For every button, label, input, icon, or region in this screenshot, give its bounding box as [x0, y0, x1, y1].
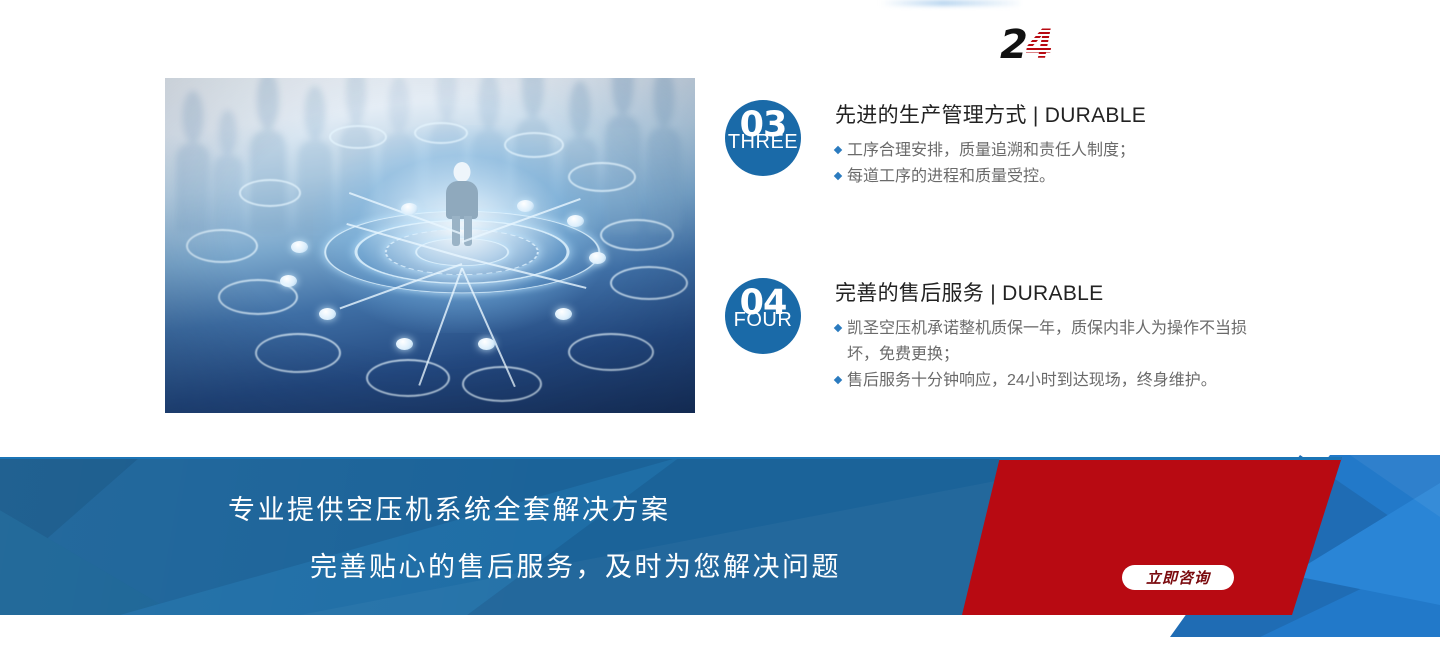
diamond-bullet-icon	[834, 172, 842, 180]
feature-item-four: 04 FOUR 完善的售后服务 | DURABLE 凯圣空压机承诺整机质保一年，…	[725, 278, 1255, 394]
hotline-digit-4: 4	[1026, 22, 1052, 68]
feature-item-three: 03 THREE 先进的生产管理方式 | DURABLE 工序合理安排，质量追溯…	[725, 100, 1146, 190]
banner-slogan-line-2: 完善贴心的售后服务，及时为您解决问题	[0, 545, 990, 584]
badge-word: FOUR	[725, 310, 801, 330]
banner-slogan: 专业提供空压机系统全套解决方案 完善贴心的售后服务，及时为您解决问题	[0, 457, 990, 615]
feature-bullet-text: 售后服务十分钟响应，24小时到达现场，终身维护。	[847, 372, 1217, 389]
feature-bullet-item: 凯圣空压机承诺整机质保一年，质保内非人为操作不当损坏，免费更换；	[835, 316, 1255, 368]
hotline-block: 24 小时服务热线： 400-881-8971	[1000, 24, 1263, 70]
banner-slogan-line-1: 专业提供空压机系统全套解决方案	[0, 488, 990, 527]
feature-bullet-item: 售后服务十分钟响应，24小时到达现场，终身维护。	[835, 368, 1255, 394]
feature-title: 先进的生产管理方式 | DURABLE	[835, 102, 1146, 129]
bottom-cta-banner: 专业提供空压机系统全套解决方案 完善贴心的售后服务，及时为您解决问题	[0, 457, 1440, 615]
badge-three: 03 THREE	[725, 100, 801, 176]
hotline-digit-2: 2	[1000, 22, 1026, 68]
feature-bullet-item: 每道工序的进程和质量受控。	[835, 164, 1146, 190]
photo-vignette	[165, 78, 695, 413]
diamond-bullet-icon	[834, 376, 842, 384]
badge-word: THREE	[725, 132, 801, 152]
feature-body: 凯圣空压机承诺整机质保一年，质保内非人为操作不当损坏，免费更换； 售后服务十分钟…	[835, 316, 1255, 394]
feature-bullet-text: 每道工序的进程和质量受控。	[847, 168, 1055, 185]
hotline-panel-top-line	[962, 457, 1342, 460]
feature-bullet-item: 工序合理安排，质量追溯和责任人制度；	[835, 138, 1146, 164]
diamond-bullet-icon	[834, 324, 842, 332]
diamond-bullet-icon	[834, 146, 842, 154]
badge-four: 04 FOUR	[725, 278, 801, 354]
network-concept-image	[165, 78, 695, 413]
hotline-phone-number: 400-881-8971	[1059, 41, 1263, 69]
feature-body: 工序合理安排，质量追溯和责任人制度； 每道工序的进程和质量受控。	[835, 138, 1146, 190]
twenty-four-hours-mark: 24	[1000, 26, 1052, 64]
hotline-label: 小时服务热线：	[1059, 24, 1263, 39]
feature-title: 完善的售后服务 | DURABLE	[835, 280, 1255, 307]
consult-now-button[interactable]: 立即咨询	[1122, 565, 1234, 590]
feature-bullet-text: 工序合理安排，质量追溯和责任人制度；	[847, 142, 1135, 159]
hotline-red-panel	[962, 457, 1342, 615]
feature-bullet-text: 凯圣空压机承诺整机质保一年，质保内非人为操作不当损坏，免费更换；	[847, 320, 1247, 363]
top-bleed-decoration	[880, 0, 1020, 6]
page-root: 03 THREE 先进的生产管理方式 | DURABLE 工序合理安排，质量追溯…	[0, 0, 1440, 663]
